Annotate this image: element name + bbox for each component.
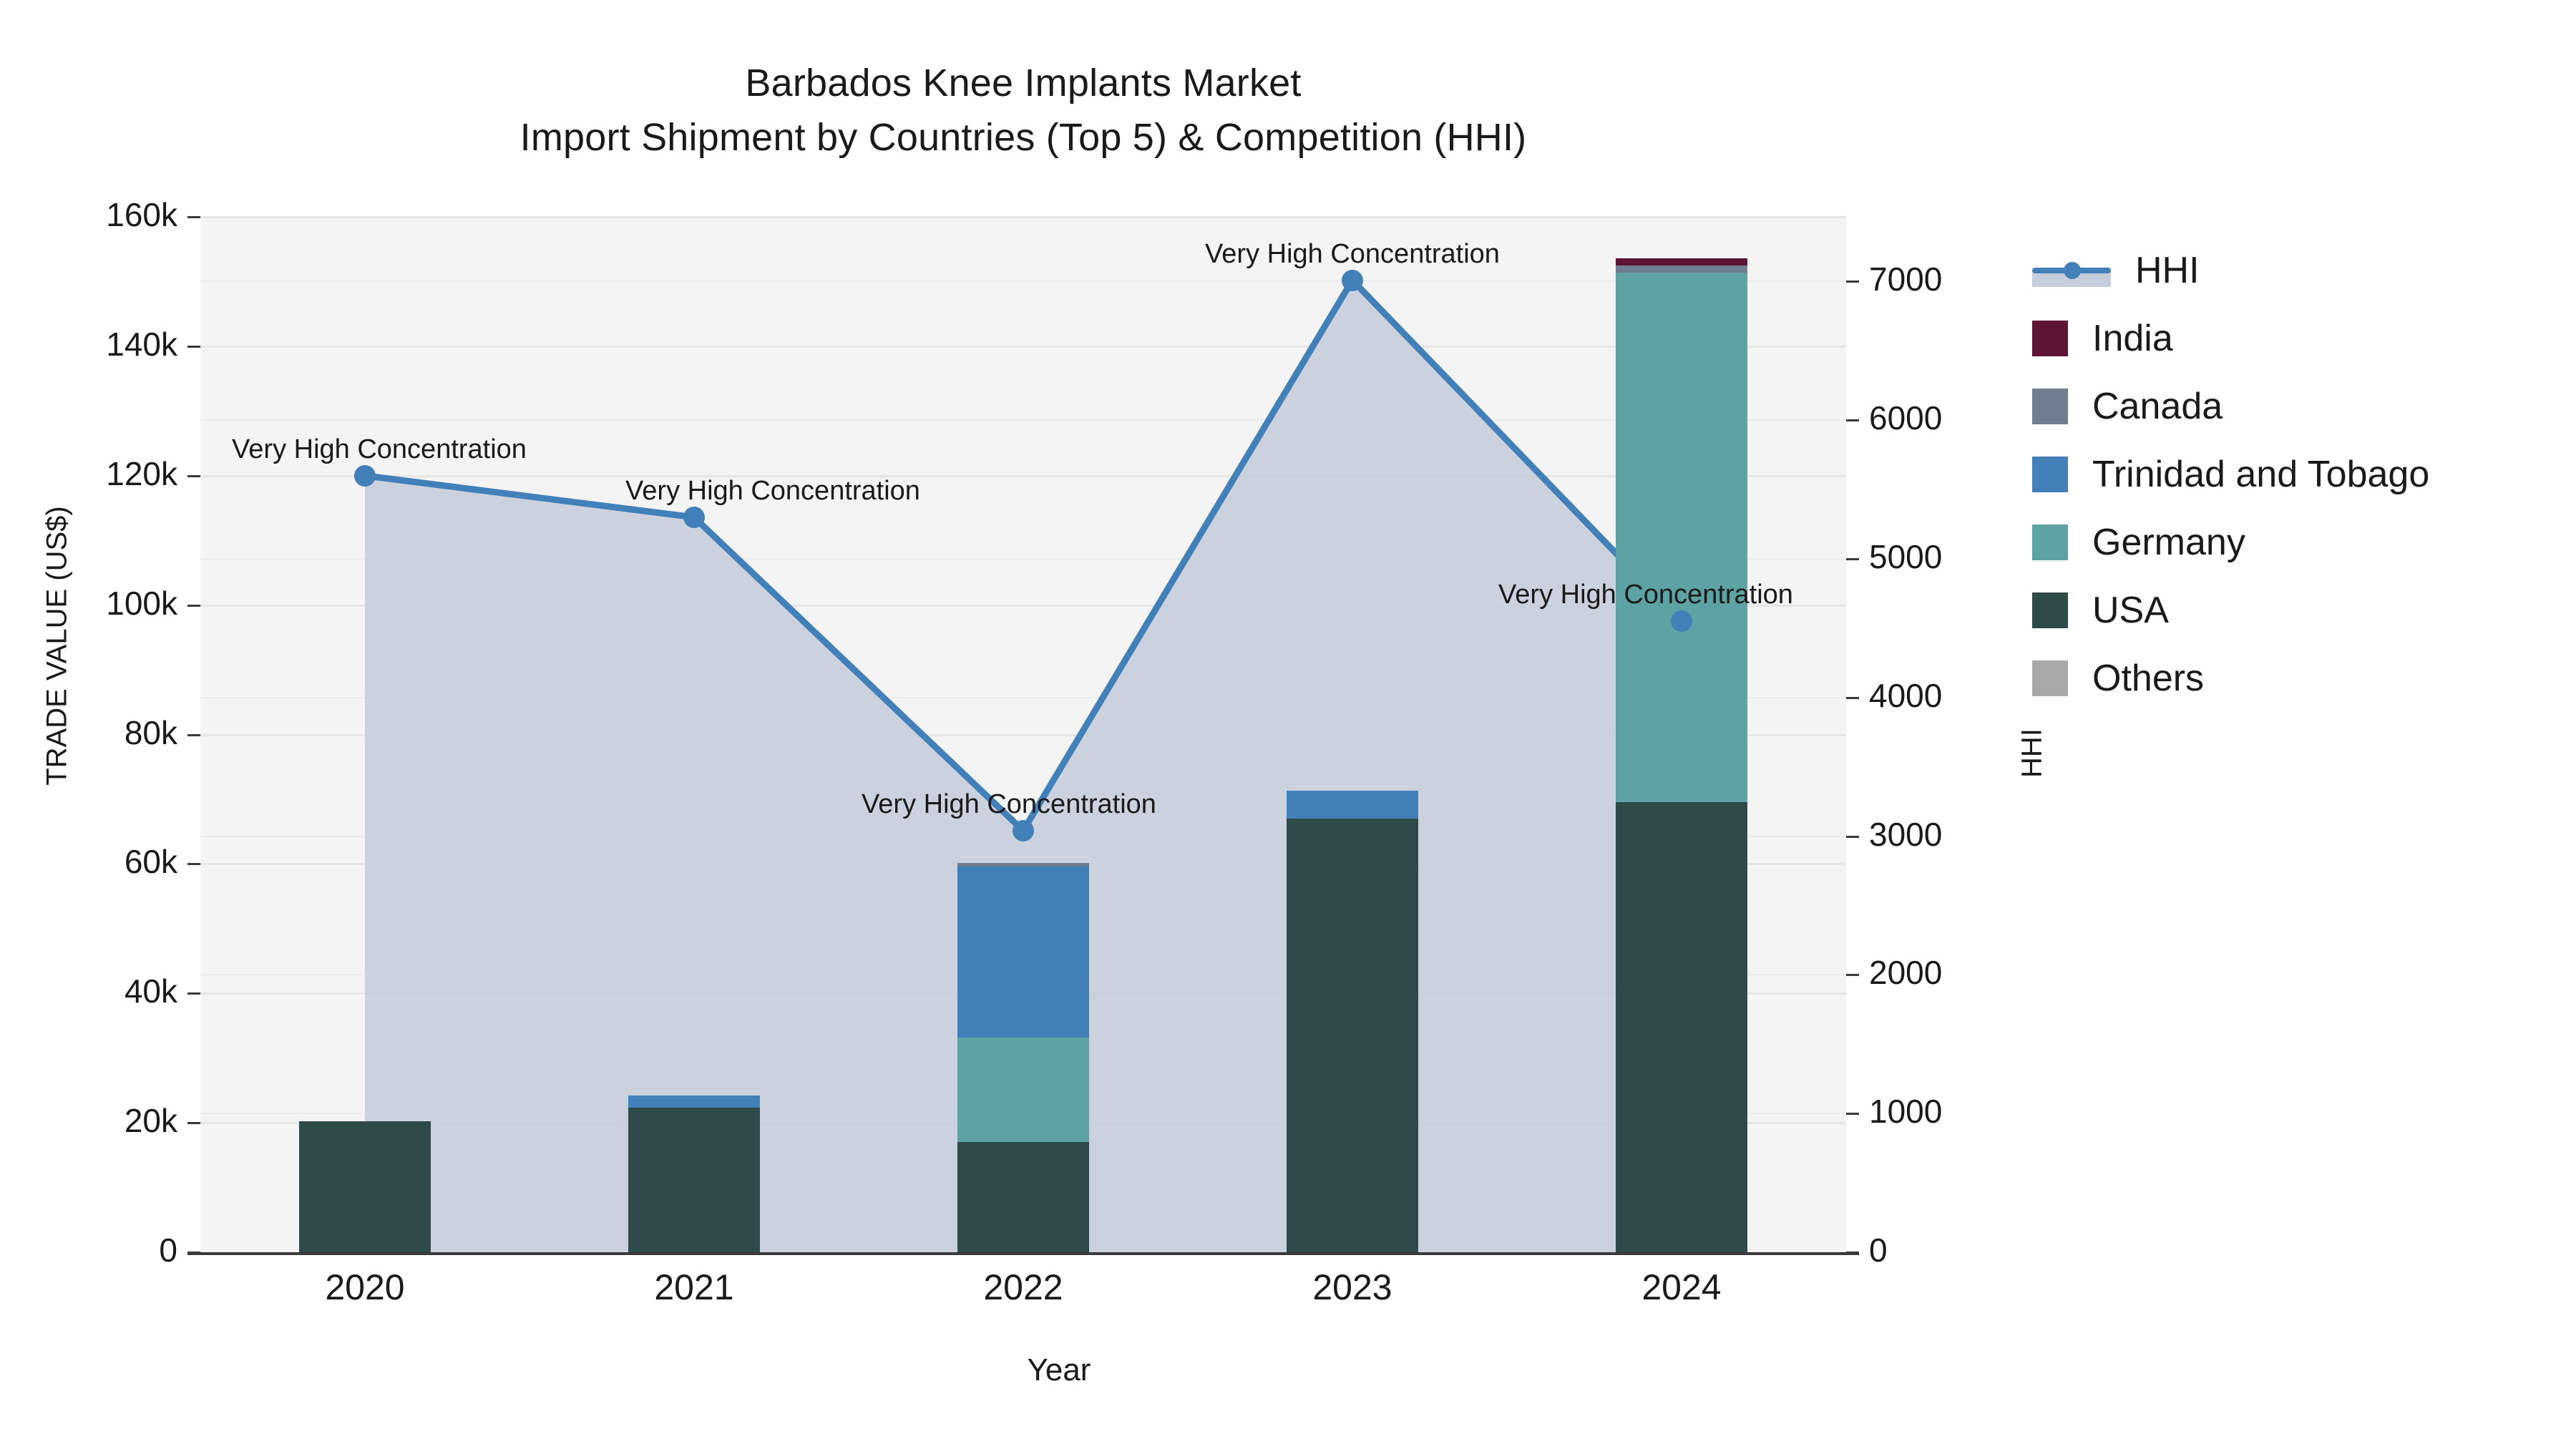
legend-item[interactable]: India <box>2032 304 2429 372</box>
chart-title: Barbados Knee Implants Market Import Shi… <box>0 56 2046 165</box>
bar-segment[interactable] <box>1616 258 1747 265</box>
y-tick-right <box>1846 1252 1859 1254</box>
x-axis-title: Year <box>844 1352 1274 1388</box>
y-tick-label-right: 3000 <box>1869 815 2098 854</box>
y-tick-right <box>1846 280 1859 283</box>
x-tick-label: 2021 <box>587 1267 801 1308</box>
hhi-data-point[interactable] <box>354 465 376 487</box>
y-tick-right <box>1846 697 1859 699</box>
legend: HHIIndiaCanadaTrinidad and TobagoGermany… <box>2032 236 2429 712</box>
legend-swatch-icon <box>2032 525 2068 560</box>
legend-label: USA <box>2092 589 2169 632</box>
bar-group[interactable] <box>1287 217 1418 1252</box>
concentration-annotation: Very High Concentration <box>1431 580 1860 610</box>
legend-label: Others <box>2092 657 2204 700</box>
legend-line-marker-icon <box>2032 253 2111 288</box>
y-tick-label-right: 0 <box>1869 1231 2098 1269</box>
legend-swatch-icon <box>2032 321 2068 356</box>
legend-label: Canada <box>2092 385 2223 428</box>
y-tick-right <box>1846 1113 1859 1115</box>
legend-label: HHI <box>2135 249 2200 292</box>
x-tick-label: 2023 <box>1245 1267 1460 1308</box>
concentration-annotation: Very High Concentration <box>165 434 594 465</box>
legend-label: India <box>2092 317 2173 360</box>
y-tick-label-left: 40k <box>0 972 177 1010</box>
legend-swatch-icon <box>2032 592 2068 628</box>
legend-swatch-icon <box>2032 660 2068 696</box>
y-tick-left <box>187 863 200 865</box>
y-tick-label-right: 2000 <box>1869 953 2098 992</box>
bar-segment[interactable] <box>957 863 1089 867</box>
concentration-annotation: Very High Concentration <box>794 789 1224 820</box>
y-tick-right <box>1846 974 1859 976</box>
y-tick-label-left: 100k <box>0 584 177 623</box>
x-axis-line <box>187 1252 1859 1255</box>
y-tick-label-right: 1000 <box>1869 1092 2098 1131</box>
concentration-annotation: Very High Concentration <box>558 476 987 507</box>
bar-segment[interactable] <box>1287 819 1418 1252</box>
y-tick-right <box>1846 558 1859 560</box>
y-tick-label-left: 0 <box>0 1231 177 1269</box>
legend-item[interactable]: Others <box>2032 644 2429 712</box>
y-tick-label-left: 140k <box>0 325 177 364</box>
x-tick-label: 2022 <box>916 1267 1131 1308</box>
bar-segment[interactable] <box>1616 273 1747 802</box>
bar-segment[interactable] <box>957 1142 1089 1252</box>
y-tick-left <box>187 475 200 477</box>
legend-label: Germany <box>2092 521 2245 564</box>
legend-item[interactable]: USA <box>2032 576 2429 644</box>
chart-title-line1: Barbados Knee Implants Market <box>0 56 2046 110</box>
hhi-data-point[interactable] <box>1342 270 1363 291</box>
bar-group[interactable] <box>628 217 760 1252</box>
bar-segment[interactable] <box>957 867 1089 1038</box>
legend-item[interactable]: Trinidad and Tobago <box>2032 440 2429 508</box>
legend-label: Trinidad and Tobago <box>2092 453 2429 496</box>
concentration-annotation: Very High Concentration <box>1138 239 1567 270</box>
hhi-data-point[interactable] <box>683 507 705 528</box>
bar-group[interactable] <box>299 217 431 1252</box>
y-tick-label-left: 120k <box>0 454 177 493</box>
y-tick-right <box>1846 419 1859 421</box>
y-tick-label-left: 20k <box>0 1101 177 1140</box>
y-tick-label-left: 160k <box>0 195 177 234</box>
bar-segment[interactable] <box>957 1038 1089 1143</box>
y-tick-left <box>187 1122 200 1124</box>
chart-title-line2: Import Shipment by Countries (Top 5) & C… <box>0 110 2046 165</box>
bar-group[interactable] <box>957 217 1089 1252</box>
bar-segment[interactable] <box>628 1096 760 1108</box>
legend-item[interactable]: Germany <box>2032 508 2429 576</box>
x-tick-label: 2020 <box>258 1267 472 1308</box>
legend-swatch-icon <box>2032 389 2068 424</box>
bar-segment[interactable] <box>1616 802 1747 1252</box>
legend-swatch-icon <box>2032 457 2068 492</box>
bar-segment[interactable] <box>1616 265 1747 273</box>
y-tick-left <box>187 346 200 348</box>
y-tick-right <box>1846 836 1859 838</box>
legend-item[interactable]: Canada <box>2032 372 2429 440</box>
hhi-data-point[interactable] <box>1013 820 1034 841</box>
bar-group[interactable] <box>1616 217 1747 1252</box>
bar-segment[interactable] <box>299 1121 431 1252</box>
y-tick-label-left: 80k <box>0 713 177 752</box>
y-tick-left <box>187 1252 200 1254</box>
x-tick-label: 2024 <box>1574 1267 1789 1308</box>
plot-area: Very High ConcentrationVery High Concent… <box>200 217 1846 1252</box>
y-tick-label-left: 60k <box>0 842 177 881</box>
legend-item[interactable]: HHI <box>2032 236 2429 304</box>
y-axis-left-title: TRADE VALUE (US$) <box>42 360 74 932</box>
bar-segment[interactable] <box>628 1108 760 1252</box>
y-tick-left <box>187 605 200 607</box>
y-tick-left <box>187 734 200 736</box>
bar-segment[interactable] <box>1287 791 1418 819</box>
y-tick-left <box>187 216 200 218</box>
y-tick-left <box>187 992 200 995</box>
